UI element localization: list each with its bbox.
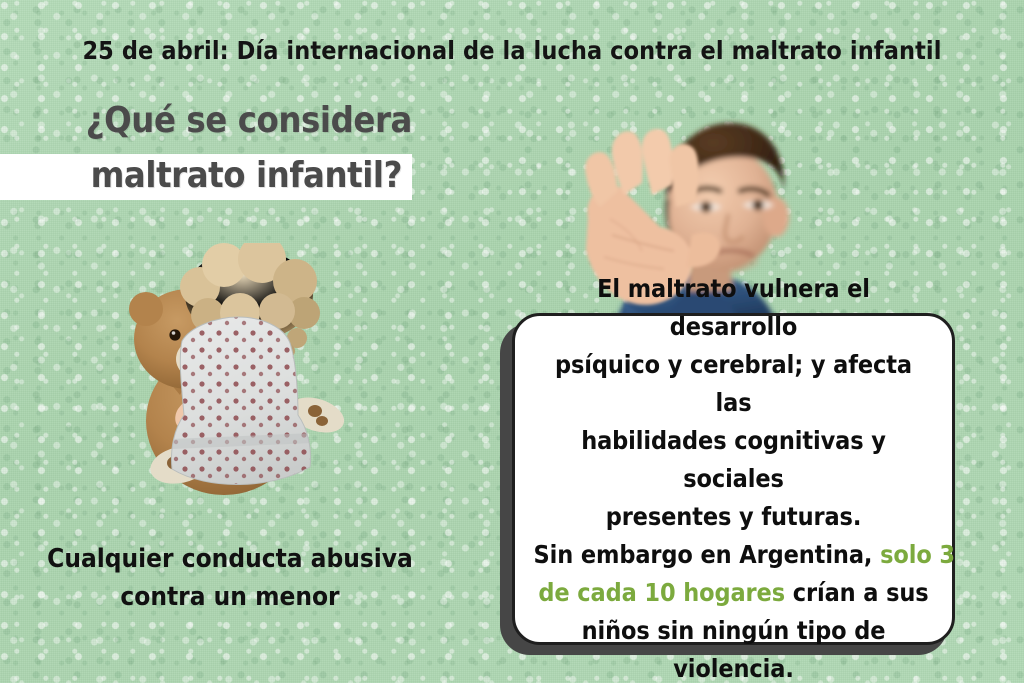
- question-heading-line-2: maltrato infantil?: [91, 158, 412, 194]
- bubble-line-4: presentes y futuras.: [534, 498, 934, 536]
- bubble-stat-highlight-a: solo 3: [880, 540, 955, 569]
- caption-line-1: Cualquier conducta abusiva: [30, 540, 430, 578]
- question-heading: ¿Qué se considera maltrato infantil?: [0, 96, 460, 200]
- bubble-line-2: psíquico y cerebral; y afecta las: [534, 346, 934, 422]
- page-title: 25 de abril: Día internacional de la luc…: [0, 36, 1024, 65]
- bubble-line-7: niños sin ningún tipo de violencia.: [534, 612, 934, 683]
- bubble-line-6: de cada 10 hogares crían a sus: [534, 574, 934, 612]
- bubble-line-6-text: crían a sus: [785, 578, 929, 607]
- caption-line-2: contra un menor: [30, 578, 430, 616]
- teddy-bear-hug-photo: [112, 243, 362, 505]
- bubble-line-5: Sin embargo en Argentina, solo 3: [534, 536, 934, 574]
- question-heading-line-1: ¿Qué se considera: [0, 96, 460, 154]
- bubble-line-3: habilidades cognitivas y sociales: [534, 422, 934, 498]
- bubble-line-5-text: Sin embargo en Argentina,: [534, 540, 881, 569]
- speech-bubble-text: El maltrato vulnera el desarrollo psíqui…: [534, 270, 934, 683]
- speech-bubble: El maltrato vulnera el desarrollo psíqui…: [512, 313, 955, 645]
- poster-canvas: 25 de abril: Día internacional de la luc…: [0, 0, 1024, 683]
- definition-caption: Cualquier conducta abusiva contra un men…: [30, 540, 430, 617]
- bubble-stat-highlight-b: de cada 10 hogares: [538, 578, 785, 607]
- bubble-line-1: El maltrato vulnera el desarrollo: [534, 270, 934, 346]
- question-heading-white-band: maltrato infantil?: [0, 154, 412, 200]
